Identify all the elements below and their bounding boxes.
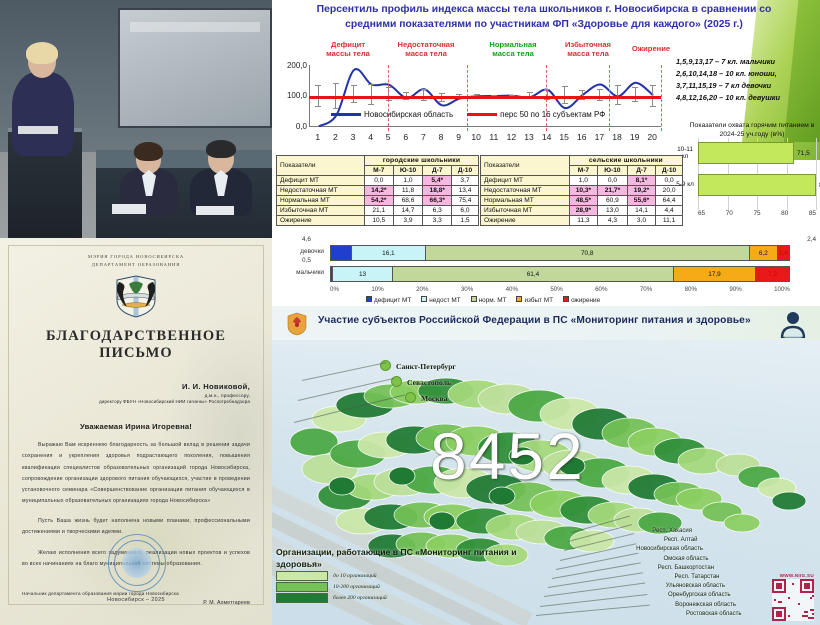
urban-schoolchildren-table: Показателигородские школьникиМ-7Ю-10Д-7Д… [276, 155, 479, 226]
stacked-label-boys: мальчики [276, 269, 324, 276]
table-column-Д-10: Д-10 [452, 166, 479, 176]
y-tick-0: 0,0 [276, 122, 307, 131]
map-region-label: Респ. Хакасия [652, 528, 692, 534]
hot-meals-row-5-9: 5-9 кл 80,5 [676, 174, 820, 196]
table-row-label: Дефицит МТ [481, 176, 570, 186]
table-cell: 8,1* [627, 176, 655, 186]
table-cell: 14,2* [365, 186, 394, 196]
table-row: Ожирение10,53,93,31,5 [277, 216, 479, 226]
slide-root: МЭРИЯ ГОРОДА НОВОСИБИРСКА ДЕПАРТАМЕНТ ОБ… [0, 0, 820, 625]
stacked-tick-20%: 20% [416, 286, 428, 293]
legend-item-p50: перс 50 по 16 субъектам РФ [467, 110, 605, 119]
city-dot-moscow [405, 392, 416, 403]
table-column-Ю-10: Ю-10 [598, 166, 628, 176]
table-cell: 66,3* [423, 196, 452, 206]
table-caption: городские школьники [365, 156, 479, 166]
stacked-legend-label: дефицит МТ [374, 297, 411, 304]
stacked-segment-дефицит-МТ [331, 246, 352, 260]
letter-recipient-org: директору ФБУН «Новосибирский НИИ гигиен… [22, 399, 250, 404]
map-legend: Организации, работающие в ПС «Мониторинг… [276, 546, 526, 603]
x-tick-7: 7 [416, 132, 430, 142]
photo-podium-papers [18, 126, 58, 134]
x-tick-10: 10 [469, 132, 483, 142]
letter-recipient-title: д.м.н., профессору, [22, 393, 250, 398]
stacked-legend-label: избыт МТ [524, 297, 553, 304]
stacked-segment-избыт-МТ: 17,9 [674, 267, 756, 281]
hot-meals-chart-title: Показатели охвата горячим питанием в 202… [682, 122, 820, 140]
legend-text-medium: 10-200 организаций [333, 584, 380, 590]
table-cell: 13,0 [598, 206, 628, 216]
hot-meals-tick-85: 85 [809, 210, 816, 217]
stacked-legend-item: норм. МТ [471, 296, 507, 304]
zone-label-overweight: Избыточная масса тела [548, 40, 628, 59]
note-line-1: 1,5,9,13,17 – 7 кл. мальчики [676, 56, 820, 68]
stacked-tick-10%: 10% [371, 286, 383, 293]
table-cell: 3,0 [627, 216, 655, 226]
legend-row-medium: 10-200 организаций [276, 582, 526, 592]
table-row-label: Ожирение [277, 216, 365, 226]
error-bar [617, 85, 618, 105]
x-tick-9: 9 [452, 132, 466, 142]
table-cell: 21,7* [598, 186, 628, 196]
y-tick-100: 100,0 [276, 91, 307, 100]
map-region-label: Респ. Татарстан [675, 574, 720, 580]
stacked-tick-70%: 70% [640, 286, 652, 293]
stacked-legend-swatch [366, 296, 372, 302]
table-column-Д-7: Д-7 [423, 166, 452, 176]
legend-text-large: более 200 организаций [333, 595, 387, 601]
table-cell: 6,0 [452, 206, 479, 216]
stacked-label-girls: девочки [276, 248, 324, 255]
bmi-distribution-stacked-chart: 4,6 девочки 0,5 мальчики 2,4 16,170,86,2… [276, 236, 816, 304]
official-seal-icon [108, 534, 166, 592]
photo-papers-2 [196, 206, 234, 215]
stacked-legend-swatch [563, 296, 569, 302]
qr-code[interactable] [772, 579, 814, 621]
legend-swatch-novosibirsk [331, 113, 361, 116]
hot-meals-bar-10-11 [698, 142, 794, 164]
table-row-label: Избыточная МТ [481, 206, 570, 216]
stacked-segment-ожирение: 7,2 [756, 267, 789, 281]
table-row-label: Нормальная МТ [277, 196, 365, 206]
gratitude-letter: МЭРИЯ ГОРОДА НОВОСИБИРСКА ДЕПАРТАМЕНТ ОБ… [0, 238, 272, 625]
table-cell: 48,5* [569, 196, 597, 206]
table-cell: 4,3 [598, 216, 628, 226]
legend-label-p50: перс 50 по 16 субъектам РФ [500, 110, 605, 119]
zone-label-underweight: Недостаточная масса тела [384, 40, 468, 59]
x-tick-12: 12 [504, 132, 518, 142]
table-indicator-header: Показатели [277, 156, 365, 176]
charts-panel: Персентиль профиль индекса массы тела шк… [272, 0, 820, 306]
stacked-segment-норм--МТ: 70,8 [426, 246, 750, 260]
stacked-legend-item: недост МТ [421, 296, 460, 304]
table-row-label: Недостаточная МТ [277, 186, 365, 196]
percentile-chart-legend: Новосибирская область перс 50 по 16 субъ… [331, 110, 661, 119]
x-tick-17: 17 [592, 132, 606, 142]
zone-label-obesity: Ожирение [624, 44, 678, 53]
stacked-tick-0%: 0% [330, 286, 339, 293]
table-cell: 68,6 [393, 196, 423, 206]
hot-meals-x-axis: 65 70 75 80 85 [698, 210, 816, 217]
photo-panelist-2-hair [206, 140, 236, 158]
stacked-legend-swatch [421, 296, 427, 302]
zone-label-normal: Нормальная масса тела [471, 40, 555, 59]
stacked-tick-40%: 40% [506, 286, 518, 293]
zone-label-deficit: Дефицит массы тела [312, 40, 384, 59]
x-tick-20: 20 [645, 132, 659, 142]
hot-meals-bar-5-9 [698, 174, 816, 196]
person-avatar-icon [780, 310, 806, 338]
hot-meals-tick-75: 75 [753, 210, 760, 217]
map-region-label: Ульяновская область [666, 583, 725, 589]
table-row: Недостаточная МТ14,2*11,818,8*13,4 [277, 186, 479, 196]
qr-caption: WWW.NIIG.SU [780, 573, 814, 578]
x-tick-13: 13 [522, 132, 536, 142]
table-column-Ю-10: Ю-10 [393, 166, 423, 176]
stacked-tick-100%: 100% [774, 286, 790, 293]
novosibirsk-coat-of-arms-icon [112, 274, 160, 318]
conference-photo [0, 0, 272, 238]
letter-greeting: Уважаемая Ирина Игоревна! [22, 422, 250, 431]
photo-papers-1 [112, 204, 146, 214]
table-column-Д-10: Д-10 [656, 166, 683, 176]
percentile-line-chart: Дефицит массы тела Недостаточная масса т… [276, 40, 676, 150]
map-region-label: Респ. Алтай [664, 537, 698, 543]
letter-org-line-2: ДЕПАРТАМЕНТ ОБРАЗОВАНИЯ [22, 261, 250, 269]
hot-meals-tick-70: 70 [726, 210, 733, 217]
table-cell: 55,6* [627, 196, 655, 206]
girls-obesity-callout: 2,4 [807, 236, 816, 243]
chart-panel-title: Персентиль профиль индекса массы тела шк… [294, 2, 794, 32]
map-region-label: Ростовская область [686, 611, 741, 617]
stacked-segment-недост-МТ: 16,1 [352, 246, 426, 260]
error-bar [371, 84, 372, 105]
table-row-label: Ожирение [481, 216, 570, 226]
letter-paragraph-1: Выражаю Вам искреннюю благодарность за б… [22, 440, 250, 507]
table-cell: 4,4 [656, 206, 683, 216]
table-cell: 13,4 [452, 186, 479, 196]
table-cell: 19,2* [627, 186, 655, 196]
table-row: Ожирение11,34,33,011,1 [481, 216, 683, 226]
table-cell: 60,9 [598, 196, 628, 206]
hot-meals-coverage-chart: Показатели охвата горячим питанием в 202… [676, 122, 820, 234]
stacked-chart-legend: дефицит МТнедост МТнорм. МТизбыт МТожире… [366, 296, 600, 304]
x-tick-2: 2 [328, 132, 342, 142]
table-row: Дефицит МТ0,01,05,4*3,7 [277, 176, 479, 186]
table-column-Д-7: Д-7 [627, 166, 655, 176]
map-region-label: Оренбургская область [668, 592, 731, 598]
note-line-4: 4,8,12,16,20 – 10 кл. девушки [676, 92, 820, 104]
table-cell: 10,3* [569, 186, 597, 196]
photo-speaker-hair [26, 42, 58, 64]
table-row-label: Нормальная МТ [481, 196, 570, 206]
hot-meals-tick-80: 80 [781, 210, 788, 217]
russia-emblem-icon [286, 312, 308, 336]
stacked-legend-label: норм. МТ [479, 297, 507, 304]
table-cell: 20,0 [656, 186, 683, 196]
city-label-sevastopol: Севастополь [407, 378, 451, 387]
hot-meals-row-10-11: 10-11 кл 71,5 [676, 142, 810, 164]
table-cell: 21,1 [365, 206, 394, 216]
map-headline: Участие субъектов Российской Федерации в… [318, 315, 751, 326]
x-tick-14: 14 [540, 132, 554, 142]
table-cell: 0,0 [365, 176, 394, 186]
stacked-segment-недост-МТ: 13 [333, 267, 393, 281]
percentile-50-reference-line [309, 96, 661, 99]
stacked-tick-50%: 50% [550, 286, 562, 293]
city-label-moscow: Москва [421, 394, 448, 403]
stacked-legend-label: ожирение [571, 297, 600, 304]
letter-city-year: Новосибирск – 2025 [0, 597, 272, 603]
photo-panelist-1-hair [134, 142, 163, 161]
stacked-legend-swatch [471, 296, 477, 302]
legend-swatch-large [276, 593, 328, 603]
x-tick-19: 19 [628, 132, 642, 142]
legend-text-small: до 10 организаций [333, 573, 377, 579]
table-row: Избыточная МТ28,9*13,014,14,4 [481, 206, 683, 216]
table-cell: 0,0 [656, 176, 683, 186]
map-region-label: Воронежская область [675, 602, 736, 608]
error-bar [353, 85, 354, 104]
stacked-legend-item: ожирение [563, 296, 600, 304]
photo-projection-screen [118, 8, 272, 128]
stacked-tick-80%: 80% [685, 286, 697, 293]
stacked-tick-90%: 90% [729, 286, 741, 293]
table-row-label: Недостаточная МТ [481, 186, 570, 196]
stacked-tick-60%: 60% [595, 286, 607, 293]
stacked-segment-ожирение: 2,4 [778, 246, 789, 260]
photo-speaker-body [12, 72, 74, 156]
table-cell: 11,3 [569, 216, 597, 226]
x-tick-4: 4 [364, 132, 378, 142]
stacked-legend-label: недост МТ [429, 297, 460, 304]
hot-meals-value-10-11: 71,5 [797, 150, 810, 157]
table-cell: 28,9* [569, 206, 597, 216]
table-cell: 11,1 [656, 216, 683, 226]
table-cell: 54,2* [365, 196, 394, 206]
table-cell: 0,0 [598, 176, 628, 186]
table-indicator-header: Показатели [481, 156, 570, 176]
letter-title: БЛАГОДАРСТВЕННОЕ ПИСЬМО [22, 328, 250, 362]
table-row: Дефицит МТ1,00,08,1*0,0 [481, 176, 683, 186]
map-region-label: Омская область [663, 556, 708, 562]
zone-divider-5 [661, 65, 662, 131]
x-tick-8: 8 [434, 132, 448, 142]
table-cell: 18,8* [423, 186, 452, 196]
table-row: Нормальная МТ48,5*60,955,6*64,4 [481, 196, 683, 206]
stacked-x-axis: 0%10%20%30%40%50%60%70%80%90%100% [330, 286, 790, 293]
x-tick-3: 3 [346, 132, 360, 142]
error-bar [564, 86, 565, 104]
table-cell: 10,5 [365, 216, 394, 226]
error-bar [635, 87, 636, 102]
legend-swatch-medium [276, 582, 328, 592]
table-cell: 1,0 [393, 176, 423, 186]
table-row-label: Дефицит МТ [277, 176, 365, 186]
letter-org-line-1: МЭРИЯ ГОРОДА НОВОСИБИРСКА [22, 253, 250, 261]
legend-row-large: более 200 организаций [276, 593, 526, 603]
map-legend-title: Организации, работающие в ПС «Мониторинг… [276, 546, 526, 570]
table-cell: 3,3 [423, 216, 452, 226]
table-caption: сельские школьники [569, 156, 682, 166]
table-cell: 6,3 [423, 206, 452, 216]
stacked-segment-норм--МТ: 61,4 [393, 267, 674, 281]
table-cell: 1,0 [569, 176, 597, 186]
hot-meals-tick-65: 65 [698, 210, 705, 217]
rural-schoolchildren-table: Показателисельские школьникиМ-7Ю-10Д-7Д-… [480, 155, 683, 226]
x-tick-1: 1 [311, 132, 325, 142]
x-tick-15: 15 [557, 132, 571, 142]
table-cell: 14,1 [627, 206, 655, 216]
letter-recipient-name: И. И. Новиковой, [22, 382, 250, 391]
stacked-row-boys: 1361,417,97,2 [330, 266, 790, 282]
map-region-label: Респ. Башкортостан [658, 565, 714, 571]
table-row: Нормальная МТ54,2*68,666,3*75,4 [277, 196, 479, 206]
stacked-legend-item: дефицит МТ [366, 296, 411, 304]
table-cell: 64,4 [656, 196, 683, 206]
table-cell: 75,4 [452, 196, 479, 206]
y-tick-200: 200,0 [276, 61, 307, 70]
table-column-М-7: М-7 [365, 166, 394, 176]
stacked-legend-swatch [516, 296, 522, 302]
table-row: Избыточная МТ21,114,76,36,0 [277, 206, 479, 216]
x-tick-11: 11 [487, 132, 501, 142]
legend-label-novosibirsk: Новосибирская область [364, 110, 453, 119]
x-tick-5: 5 [381, 132, 395, 142]
error-bar [423, 89, 424, 101]
grade-legend-note: 1,5,9,13,17 – 7 кл. мальчики 2,6,10,14,1… [676, 56, 820, 104]
table-cell: 3,9 [393, 216, 423, 226]
note-line-2: 2,6,10,14,18 – 10 кл. юноши, [676, 68, 820, 80]
photo-tablecloth [96, 150, 272, 168]
russia-map-panel: Участие субъектов Российской Федерации в… [272, 306, 820, 625]
letter-recipient-block: И. И. Новиковой, д.м.н., профессору, дир… [22, 382, 250, 404]
table-cell: 3,7 [452, 176, 479, 186]
x-tick-6: 6 [399, 132, 413, 142]
table-cell: 1,5 [452, 216, 479, 226]
table-cell: 11,8 [393, 186, 423, 196]
table-column-М-7: М-7 [569, 166, 597, 176]
total-organizations-count: 8452 [430, 418, 585, 494]
legend-row-small: до 10 организаций [276, 571, 526, 581]
table-cell: 14,7 [393, 206, 423, 216]
stacked-legend-item: избыт МТ [516, 296, 553, 304]
note-line-3: 3,7,11,15,19 – 7 кл девочки [676, 80, 820, 92]
legend-swatch-p50 [467, 113, 497, 116]
city-label-saint-petersburg: Санкт-Петербург [396, 362, 456, 371]
legend-swatch-small [276, 571, 328, 581]
boys-deficit-callout: 0,5 [302, 257, 311, 264]
stacked-row-girls: 16,170,86,22,4 [330, 245, 790, 261]
x-tick-16: 16 [575, 132, 589, 142]
table-cell: 5,4* [423, 176, 452, 186]
girls-deficit-callout: 4,6 [302, 236, 311, 243]
x-tick-18: 18 [610, 132, 624, 142]
table-row: Недостаточная МТ10,3*21,7*19,2*20,0 [481, 186, 683, 196]
table-row-label: Избыточная МТ [277, 206, 365, 216]
stacked-segment-избыт-МТ: 6,2 [750, 246, 778, 260]
map-region-label: Новосибирская область [636, 546, 703, 552]
legend-item-novosibirsk: Новосибирская область [331, 110, 453, 119]
stacked-tick-30%: 30% [461, 286, 473, 293]
